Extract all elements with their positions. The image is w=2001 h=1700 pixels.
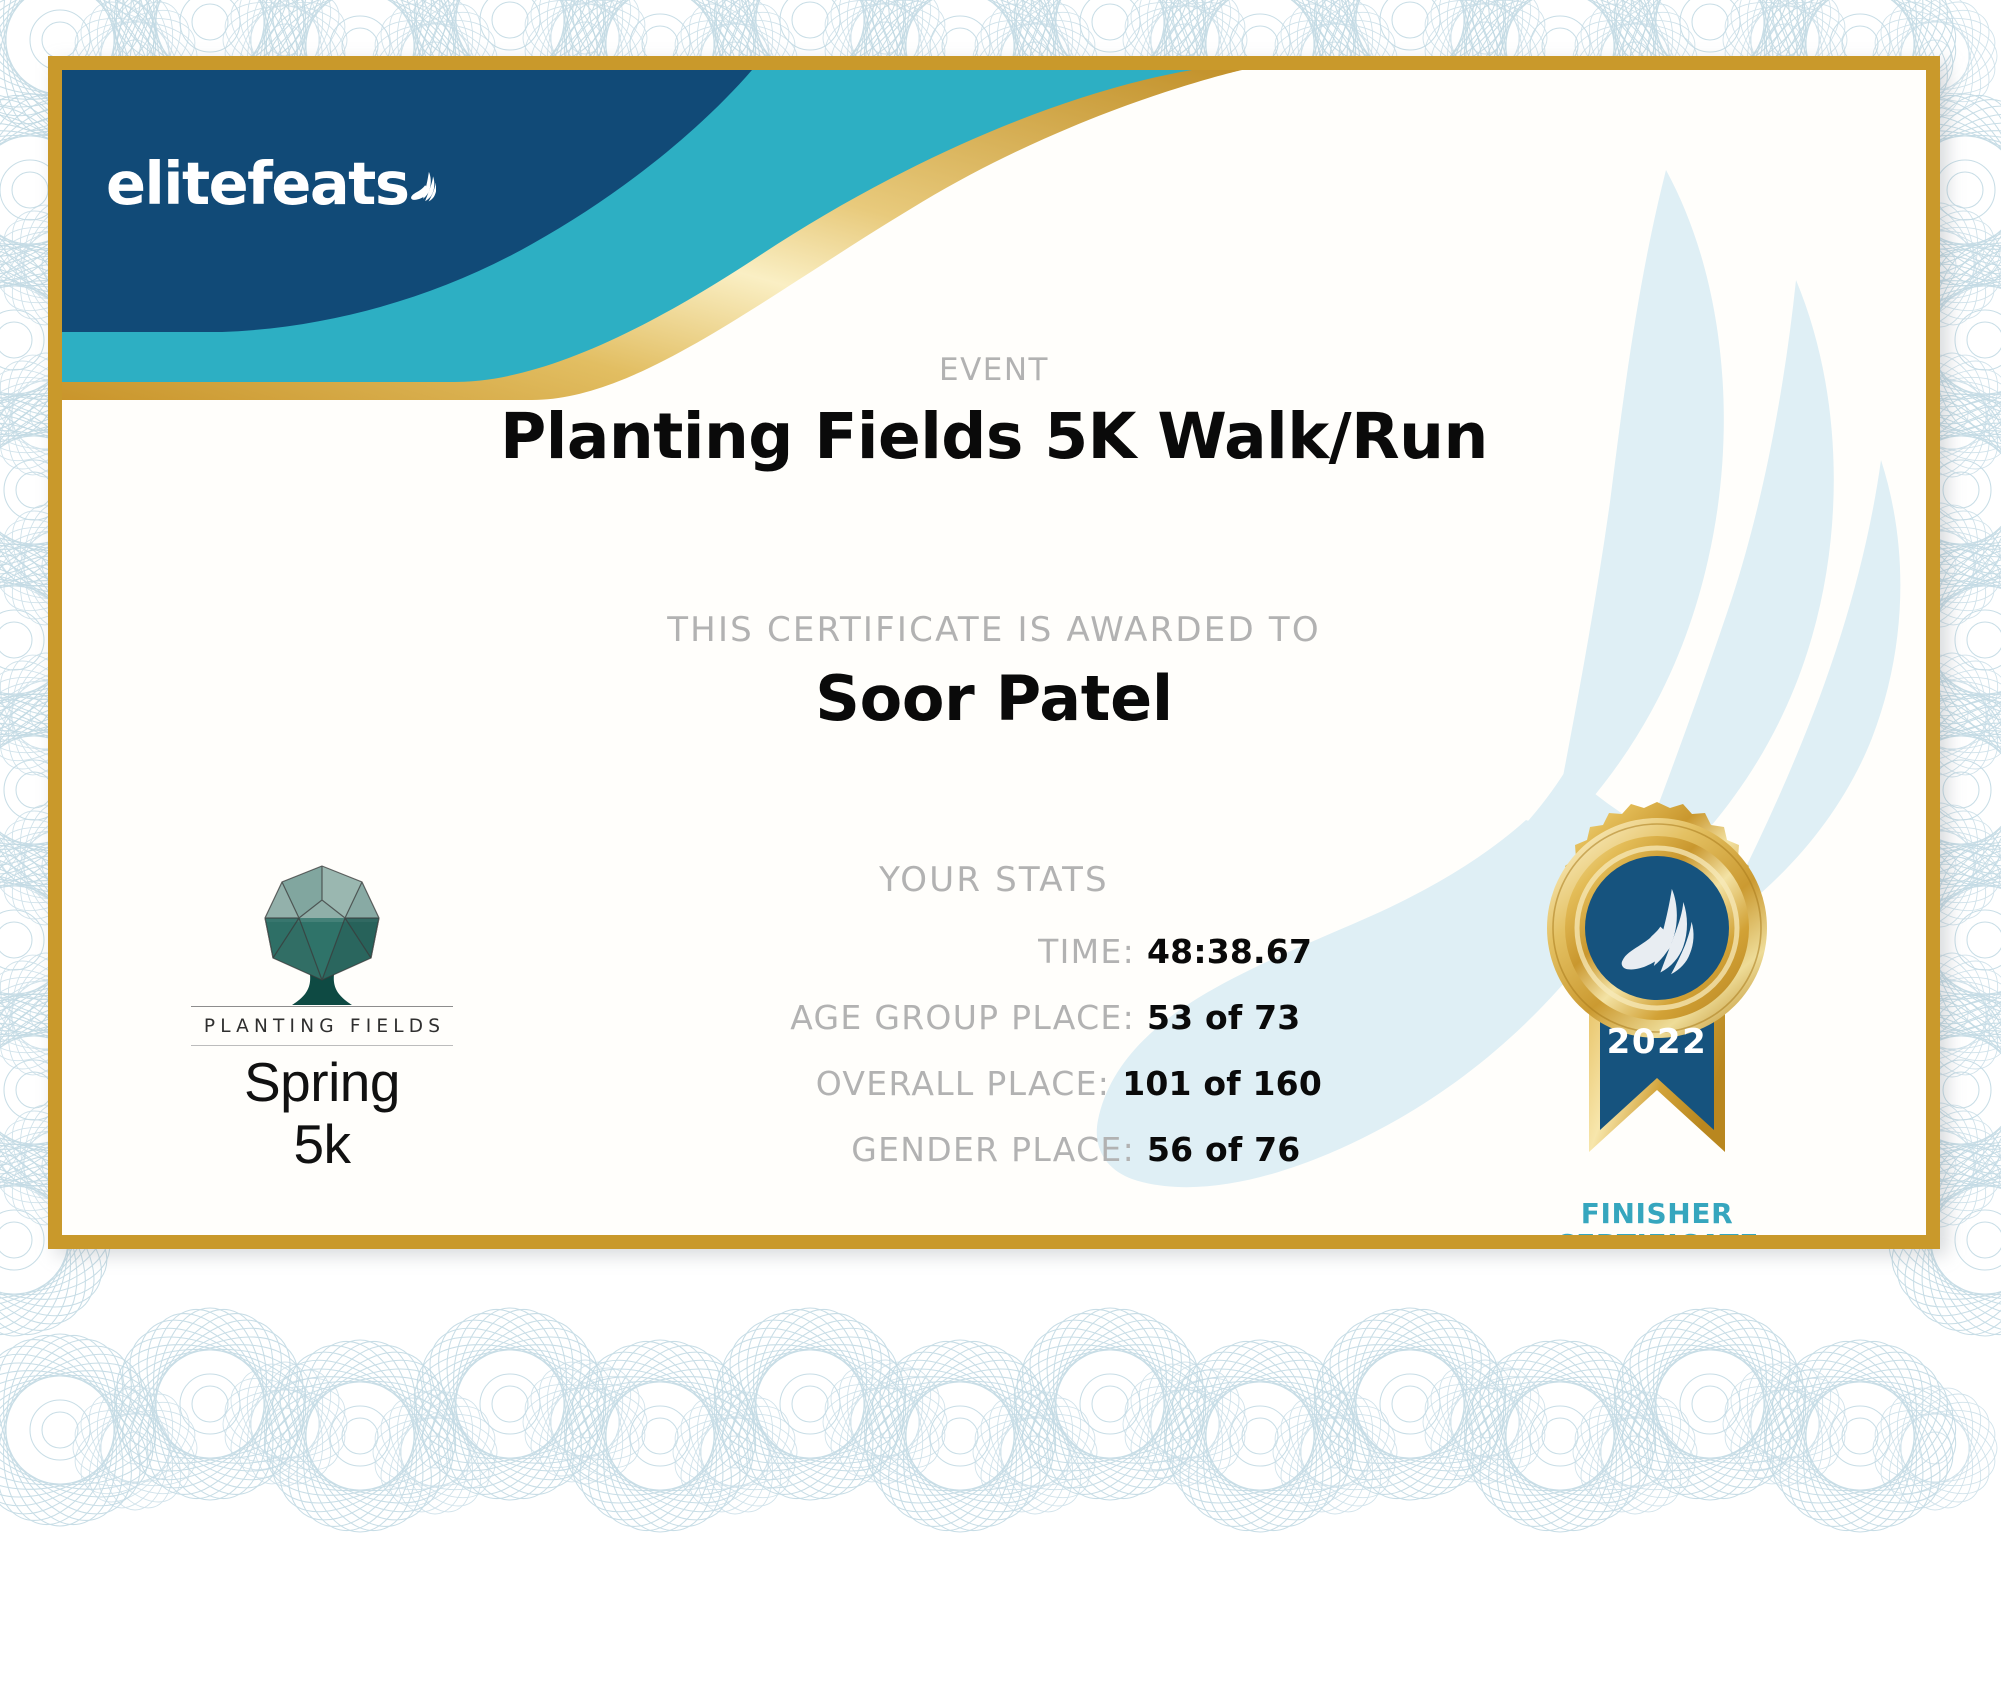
event-label: EVENT [62,352,1926,388]
finisher-caption-line2: CERTIFICATE [1517,1229,1797,1235]
event-title: Planting Fields 5K Walk/Run [62,400,1926,473]
gold-medal-ribbon-icon: 2022 [1529,800,1785,1190]
stat-row-time: TIME: 48:38.67 [392,932,1322,984]
geodesic-dome-tree-icon [237,860,407,1006]
stat-value-gender-place: 56 of 76 [1147,1130,1322,1169]
stat-value-time: 48:38.67 [1147,932,1322,971]
stat-label-gender-place: GENDER PLACE: [851,1130,1135,1169]
awarded-to-label: THIS CERTIFICATE IS AWARDED TO [62,610,1926,650]
event-logo-season: Spring [172,1052,472,1114]
stat-value-age-group-place: 53 of 73 [1147,998,1322,1037]
stat-row-age-group-place: AGE GROUP PLACE: 53 of 73 [392,998,1322,1050]
finisher-caption: FINISHER CERTIFICATE [1517,1198,1797,1235]
stat-row-overall-place: OVERALL PLACE: 101 of 160 [392,1064,1322,1116]
event-logo-rule-bottom [191,1045,453,1046]
medal-year-text: 2022 [1607,1022,1708,1062]
stat-label-age-group-place: AGE GROUP PLACE: [790,998,1135,1037]
stat-value-overall-place: 101 of 160 [1122,1064,1322,1103]
stat-row-gender-place: GENDER PLACE: 56 of 76 [392,1130,1322,1182]
event-logo: PLANTING FIELDS Spring 5k [172,860,472,1175]
recipient-name: Soor Patel [62,662,1926,735]
event-logo-name: PLANTING FIELDS [172,1007,472,1045]
event-logo-distance: 5k [172,1114,472,1176]
finisher-medal: 2022 FINISHER CERTIFICATE [1517,800,1797,1235]
stat-label-time: TIME: [1038,932,1135,971]
certificate-card: elitefeats EVENT Planting Fields 5K Walk… [48,56,1940,1249]
finisher-caption-line1: FINISHER [1517,1198,1797,1229]
brand-wordmark: elitefeats [106,154,409,213]
certificate-page: elitefeats EVENT Planting Fields 5K Walk… [0,0,2001,1700]
winged-foot-icon [411,143,437,229]
stats-table: TIME: 48:38.67 AGE GROUP PLACE: 53 of 73… [392,932,1322,1196]
brand-logo: elitefeats [106,128,436,238]
stat-label-overall-place: OVERALL PLACE: [816,1064,1111,1103]
